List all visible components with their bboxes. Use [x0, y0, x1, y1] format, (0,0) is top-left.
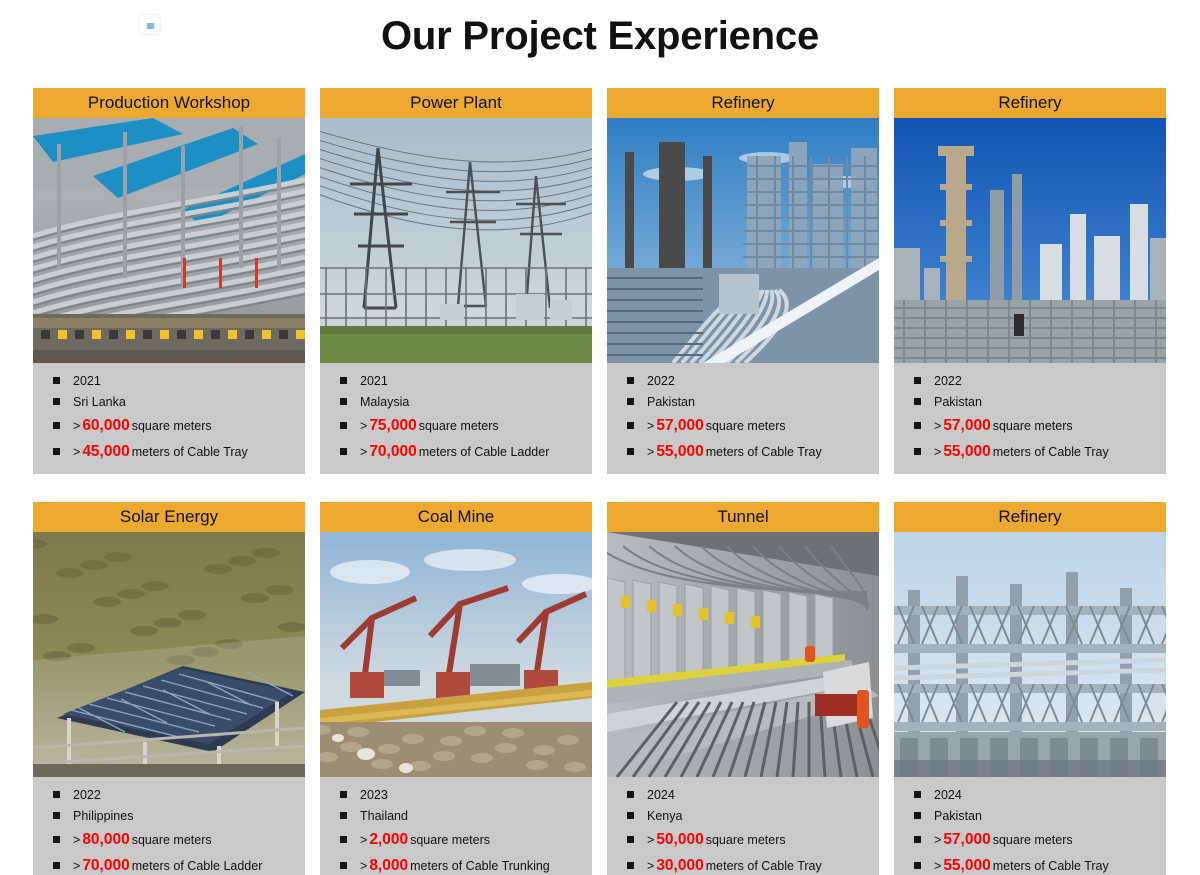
project-year-row: 2021: [33, 371, 305, 392]
project-card-info: 2023 Thailand >2,000square meters >8,000…: [320, 777, 592, 875]
project-country: Philippines: [73, 807, 133, 826]
square-bullet-icon: [340, 448, 347, 455]
project-length-value: 70,000: [80, 857, 131, 874]
project-year: 2022: [647, 372, 675, 391]
project-year: 2023: [360, 786, 388, 805]
project-area: >80,000square meters: [73, 828, 212, 852]
project-year-row: 2022: [33, 785, 305, 806]
project-length-unit: meters of Cable Tray: [706, 445, 822, 459]
project-card-info: 2024 Kenya >50,000square meters >30,000m…: [607, 777, 879, 875]
project-length-value: 55,000: [941, 443, 992, 460]
project-country-row: Philippines: [33, 806, 305, 827]
project-year-row: 2022: [894, 371, 1166, 392]
square-bullet-icon: [627, 791, 634, 798]
project-length-unit: meters of Cable Trunking: [410, 859, 550, 873]
square-bullet-icon: [340, 791, 347, 798]
project-year: 2024: [647, 786, 675, 805]
square-bullet-icon: [914, 398, 921, 405]
project-card-info: 2022 Pakistan >57,000square meters >55,0…: [894, 363, 1166, 474]
square-bullet-icon: [914, 448, 921, 455]
refinery-photo-3: [894, 532, 1166, 777]
square-bullet-icon: [627, 377, 634, 384]
square-bullet-icon: [53, 398, 60, 405]
refinery-photo-1: [607, 118, 879, 363]
project-area: >57,000square meters: [934, 828, 1073, 852]
project-area-row: >57,000square meters: [894, 827, 1166, 853]
project-country-row: Pakistan: [894, 392, 1166, 413]
project-length-row: >55,000meters of Cable Tray: [607, 439, 879, 465]
square-bullet-icon: [627, 812, 634, 819]
project-length-unit: meters of Cable Ladder: [419, 445, 550, 459]
project-country: Malaysia: [360, 393, 409, 412]
project-length-row: >70,000meters of Cable Ladder: [320, 439, 592, 465]
square-bullet-icon: [914, 836, 921, 843]
square-bullet-icon: [627, 448, 634, 455]
square-bullet-icon: [340, 377, 347, 384]
project-year-row: 2024: [607, 785, 879, 806]
square-bullet-icon: [340, 836, 347, 843]
project-country-row: Sri Lanka: [33, 392, 305, 413]
square-bullet-icon: [53, 422, 60, 429]
project-area: >75,000square meters: [360, 414, 499, 438]
project-area-value: 50,000: [654, 831, 705, 848]
square-bullet-icon: [340, 812, 347, 819]
project-length-row: >45,000meters of Cable Tray: [33, 439, 305, 465]
project-length: >30,000meters of Cable Tray: [647, 854, 822, 875]
project-year-row: 2021: [320, 371, 592, 392]
project-card[interactable]: Tunnel: [607, 502, 879, 875]
project-area-unit: square meters: [993, 419, 1073, 433]
project-year: 2022: [73, 786, 101, 805]
square-bullet-icon: [627, 422, 634, 429]
square-bullet-icon: [914, 422, 921, 429]
coal-mine-photo: [320, 532, 592, 777]
project-length-value: 30,000: [654, 857, 705, 874]
project-length: >70,000meters of Cable Ladder: [73, 854, 262, 875]
project-country: Pakistan: [934, 393, 982, 412]
project-area-row: >75,000square meters: [320, 413, 592, 439]
project-country-row: Thailand: [320, 806, 592, 827]
project-area-unit: square meters: [706, 833, 786, 847]
project-country: Sri Lanka: [73, 393, 126, 412]
project-area-value: 57,000: [654, 417, 705, 434]
project-card-title: Refinery: [607, 88, 879, 118]
tunnel-photo: [607, 532, 879, 777]
project-card-title: Coal Mine: [320, 502, 592, 532]
project-length: >55,000meters of Cable Tray: [934, 854, 1109, 875]
project-length: >55,000meters of Cable Tray: [647, 440, 822, 464]
project-area-value: 60,000: [80, 417, 131, 434]
power-plant-photo: [320, 118, 592, 363]
project-length-row: >55,000meters of Cable Tray: [894, 439, 1166, 465]
square-bullet-icon: [914, 791, 921, 798]
square-bullet-icon: [53, 377, 60, 384]
square-bullet-icon: [627, 862, 634, 869]
square-bullet-icon: [340, 862, 347, 869]
project-length-unit: meters of Cable Tray: [706, 859, 822, 873]
project-year-row: 2022: [607, 371, 879, 392]
project-area-row: >60,000square meters: [33, 413, 305, 439]
project-card-title: Solar Energy: [33, 502, 305, 532]
project-length-row: >30,000meters of Cable Tray: [607, 853, 879, 875]
square-bullet-icon: [627, 398, 634, 405]
square-bullet-icon: [53, 812, 60, 819]
project-card-grid: Production Workshop: [33, 88, 1167, 875]
project-length-unit: meters of Cable Tray: [132, 445, 248, 459]
project-length-value: 45,000: [80, 443, 131, 460]
project-card[interactable]: Solar Energy: [33, 502, 305, 875]
project-length-value: 55,000: [941, 857, 992, 874]
project-length: >45,000meters of Cable Tray: [73, 440, 248, 464]
square-bullet-icon: [53, 836, 60, 843]
square-bullet-icon: [53, 448, 60, 455]
project-length: >55,000meters of Cable Tray: [934, 440, 1109, 464]
page-title: Our Project Experience: [0, 14, 1200, 59]
project-area: >57,000square meters: [934, 414, 1073, 438]
project-length: >70,000meters of Cable Ladder: [360, 440, 549, 464]
project-card-info: 2022 Philippines >80,000square meters >7…: [33, 777, 305, 875]
project-area-unit: square meters: [132, 419, 212, 433]
project-area-row: >80,000square meters: [33, 827, 305, 853]
project-year: 2021: [73, 372, 101, 391]
project-length: >8,000meters of Cable Trunking: [360, 854, 550, 875]
project-area-row: >57,000square meters: [894, 413, 1166, 439]
project-area-value: 57,000: [941, 831, 992, 848]
project-card[interactable]: Power Plant: [320, 88, 592, 474]
project-area-unit: square meters: [419, 419, 499, 433]
project-card[interactable]: Refinery: [894, 502, 1166, 875]
project-length-unit: meters of Cable Ladder: [132, 859, 263, 873]
project-country-row: Pakistan: [607, 392, 879, 413]
project-area-value: 80,000: [80, 831, 131, 848]
square-bullet-icon: [914, 377, 921, 384]
project-length-value: 70,000: [367, 443, 418, 460]
square-bullet-icon: [914, 812, 921, 819]
project-card-info: 2021 Sri Lanka >60,000square meters >45,…: [33, 363, 305, 474]
project-card-info: 2022 Pakistan >57,000square meters >55,0…: [607, 363, 879, 474]
refinery-photo-2: [894, 118, 1166, 363]
project-country: Pakistan: [647, 393, 695, 412]
project-year-row: 2023: [320, 785, 592, 806]
project-country-row: Kenya: [607, 806, 879, 827]
project-experience-page: Our Project Experience Production Worksh…: [0, 0, 1200, 875]
project-area: >60,000square meters: [73, 414, 212, 438]
project-year: 2021: [360, 372, 388, 391]
project-area-row: >57,000square meters: [607, 413, 879, 439]
project-length-unit: meters of Cable Tray: [993, 445, 1109, 459]
project-length-unit: meters of Cable Tray: [993, 859, 1109, 873]
project-card[interactable]: Refinery: [607, 88, 879, 474]
project-card[interactable]: Refinery: [894, 88, 1166, 474]
square-bullet-icon: [53, 791, 60, 798]
project-country-row: Pakistan: [894, 806, 1166, 827]
project-length-value: 8,000: [367, 857, 410, 874]
project-area-value: 2,000: [367, 831, 410, 848]
square-bullet-icon: [340, 398, 347, 405]
project-area-row: >50,000square meters: [607, 827, 879, 853]
project-country-row: Malaysia: [320, 392, 592, 413]
project-card-title: Refinery: [894, 88, 1166, 118]
project-area-unit: square meters: [132, 833, 212, 847]
project-length-row: >70,000meters of Cable Ladder: [33, 853, 305, 875]
project-length-row: >55,000meters of Cable Tray: [894, 853, 1166, 875]
project-area-row: >2,000square meters: [320, 827, 592, 853]
project-country: Kenya: [647, 807, 682, 826]
square-bullet-icon: [53, 862, 60, 869]
project-card-title: Tunnel: [607, 502, 879, 532]
project-area-value: 75,000: [367, 417, 418, 434]
project-card-title: Power Plant: [320, 88, 592, 118]
project-card-info: 2024 Pakistan >57,000square meters >55,0…: [894, 777, 1166, 875]
project-year: 2024: [934, 786, 962, 805]
square-bullet-icon: [627, 836, 634, 843]
project-area: >50,000square meters: [647, 828, 786, 852]
project-area-unit: square meters: [410, 833, 490, 847]
project-area-unit: square meters: [993, 833, 1073, 847]
project-area: >57,000square meters: [647, 414, 786, 438]
square-bullet-icon: [914, 862, 921, 869]
project-area-value: 57,000: [941, 417, 992, 434]
project-length-row: >8,000meters of Cable Trunking: [320, 853, 592, 875]
project-card[interactable]: Coal Mine: [320, 502, 592, 875]
square-bullet-icon: [340, 422, 347, 429]
production-workshop-photo: [33, 118, 305, 363]
project-card-info: 2021 Malaysia >75,000square meters >70,0…: [320, 363, 592, 474]
project-area-unit: square meters: [706, 419, 786, 433]
project-area: >2,000square meters: [360, 828, 490, 852]
project-card-title: Production Workshop: [33, 88, 305, 118]
project-country: Pakistan: [934, 807, 982, 826]
solar-energy-photo: [33, 532, 305, 777]
project-length-value: 55,000: [654, 443, 705, 460]
project-country: Thailand: [360, 807, 408, 826]
project-year-row: 2024: [894, 785, 1166, 806]
project-card[interactable]: Production Workshop: [33, 88, 305, 474]
project-year: 2022: [934, 372, 962, 391]
project-card-title: Refinery: [894, 502, 1166, 532]
